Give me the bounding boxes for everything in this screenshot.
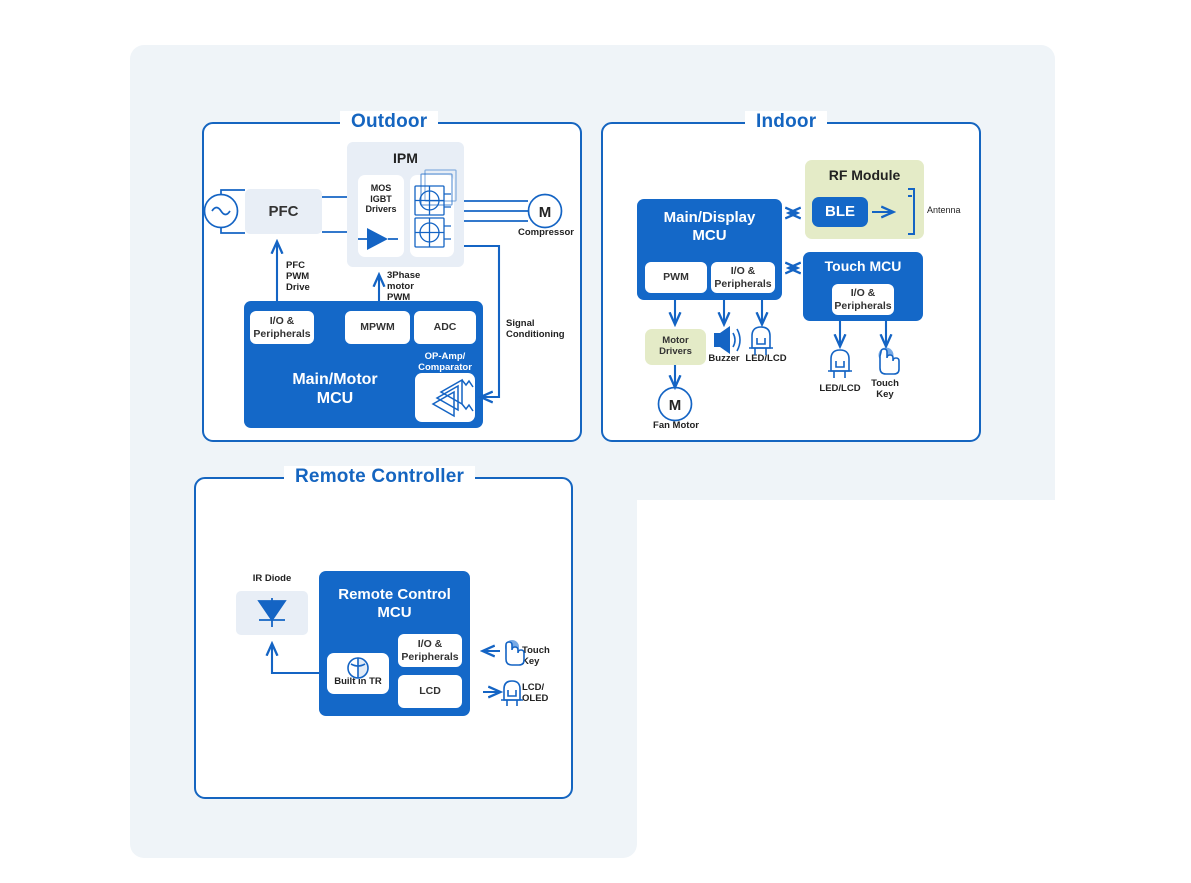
touch-mcu-io-label: I/O & Peripherals: [834, 287, 891, 311]
opamp-comparator-card: [415, 373, 475, 422]
remote-lcd: LCD: [398, 675, 462, 708]
motor-drivers-block: Motor Drivers: [645, 329, 706, 365]
outdoor-mpwm: MPWM: [345, 311, 410, 344]
indoor-io-peripherals-label: I/O & Peripherals: [714, 265, 771, 289]
motor-drivers-label: Motor Drivers: [659, 336, 692, 358]
outdoor-io-peripherals-label: I/O & Peripherals: [253, 315, 310, 339]
indoor-io-peripherals: I/O & Peripherals: [711, 262, 775, 293]
outdoor-adc: ADC: [414, 311, 476, 344]
built-in-tr-label: Built in TR: [327, 676, 389, 687]
touch-led-lcd-label: LED/LCD: [814, 383, 866, 394]
outdoor-io-peripherals: I/O & Peripherals: [250, 311, 314, 344]
remote-io-peripherals: I/O & Peripherals: [398, 634, 462, 667]
main-display-mcu-title: Main/Display MCU: [637, 209, 782, 244]
antenna-label: Antenna: [927, 205, 961, 216]
pfc-block: PFC: [245, 189, 322, 234]
group-indoor-title: Indoor: [745, 111, 827, 133]
rf-module-title: RF Module: [805, 167, 924, 184]
remote-control-mcu-title: Remote Control MCU: [319, 586, 470, 621]
remote-touch-key-label: Touch Key: [522, 645, 550, 667]
compressor-label: Compressor: [511, 227, 581, 238]
ipm-title: IPM: [347, 150, 464, 167]
pfc-label: PFC: [269, 203, 299, 220]
touch-key-label: Touch Key: [862, 378, 908, 400]
remote-lcd-oled-label: LCD/ OLED: [522, 682, 548, 704]
touch-mcu-io-peripherals: I/O & Peripherals: [832, 284, 894, 315]
indoor-pwm-label: PWM: [663, 271, 689, 283]
indoor-pwm: PWM: [645, 262, 707, 293]
group-remote-title: Remote Controller: [284, 466, 475, 488]
touch-mcu-title: Touch MCU: [803, 258, 923, 275]
ir-diode-block: [236, 591, 308, 635]
remote-lcd-label: LCD: [419, 685, 441, 697]
mos-igbt-drivers-label: MOS IGBT Drivers: [358, 183, 404, 215]
outdoor-mpwm-label: MPWM: [360, 321, 394, 333]
three-phase-pwm-label: 3Phase motor PWM: [387, 270, 420, 304]
ble-label: BLE: [825, 203, 855, 220]
main-motor-mcu-title: Main/Motor MCU: [250, 371, 420, 409]
signal-conditioning-label: Signal Conditioning: [506, 318, 565, 340]
remote-io-peripherals-label: I/O & Peripherals: [401, 638, 458, 662]
fan-motor-label: Fan Motor: [640, 420, 712, 431]
ble-block: BLE: [812, 197, 868, 227]
igbt-stack-card: [410, 175, 454, 257]
pfc-pwm-drive-label: PFC PWM Drive: [286, 260, 310, 294]
opamp-comparator-label: OP-Amp/ Comparator: [409, 351, 481, 373]
outdoor-adc-label: ADC: [434, 321, 457, 333]
ir-diode-label: IR Diode: [236, 573, 308, 584]
built-in-tr-block: [327, 653, 389, 694]
indoor-led-lcd-label: LED/LCD: [740, 353, 792, 364]
diagram-canvas: Outdoor IPM MOS IGBT Drivers PFC Main/Mo…: [0, 0, 1191, 883]
group-outdoor-title: Outdoor: [340, 111, 438, 133]
